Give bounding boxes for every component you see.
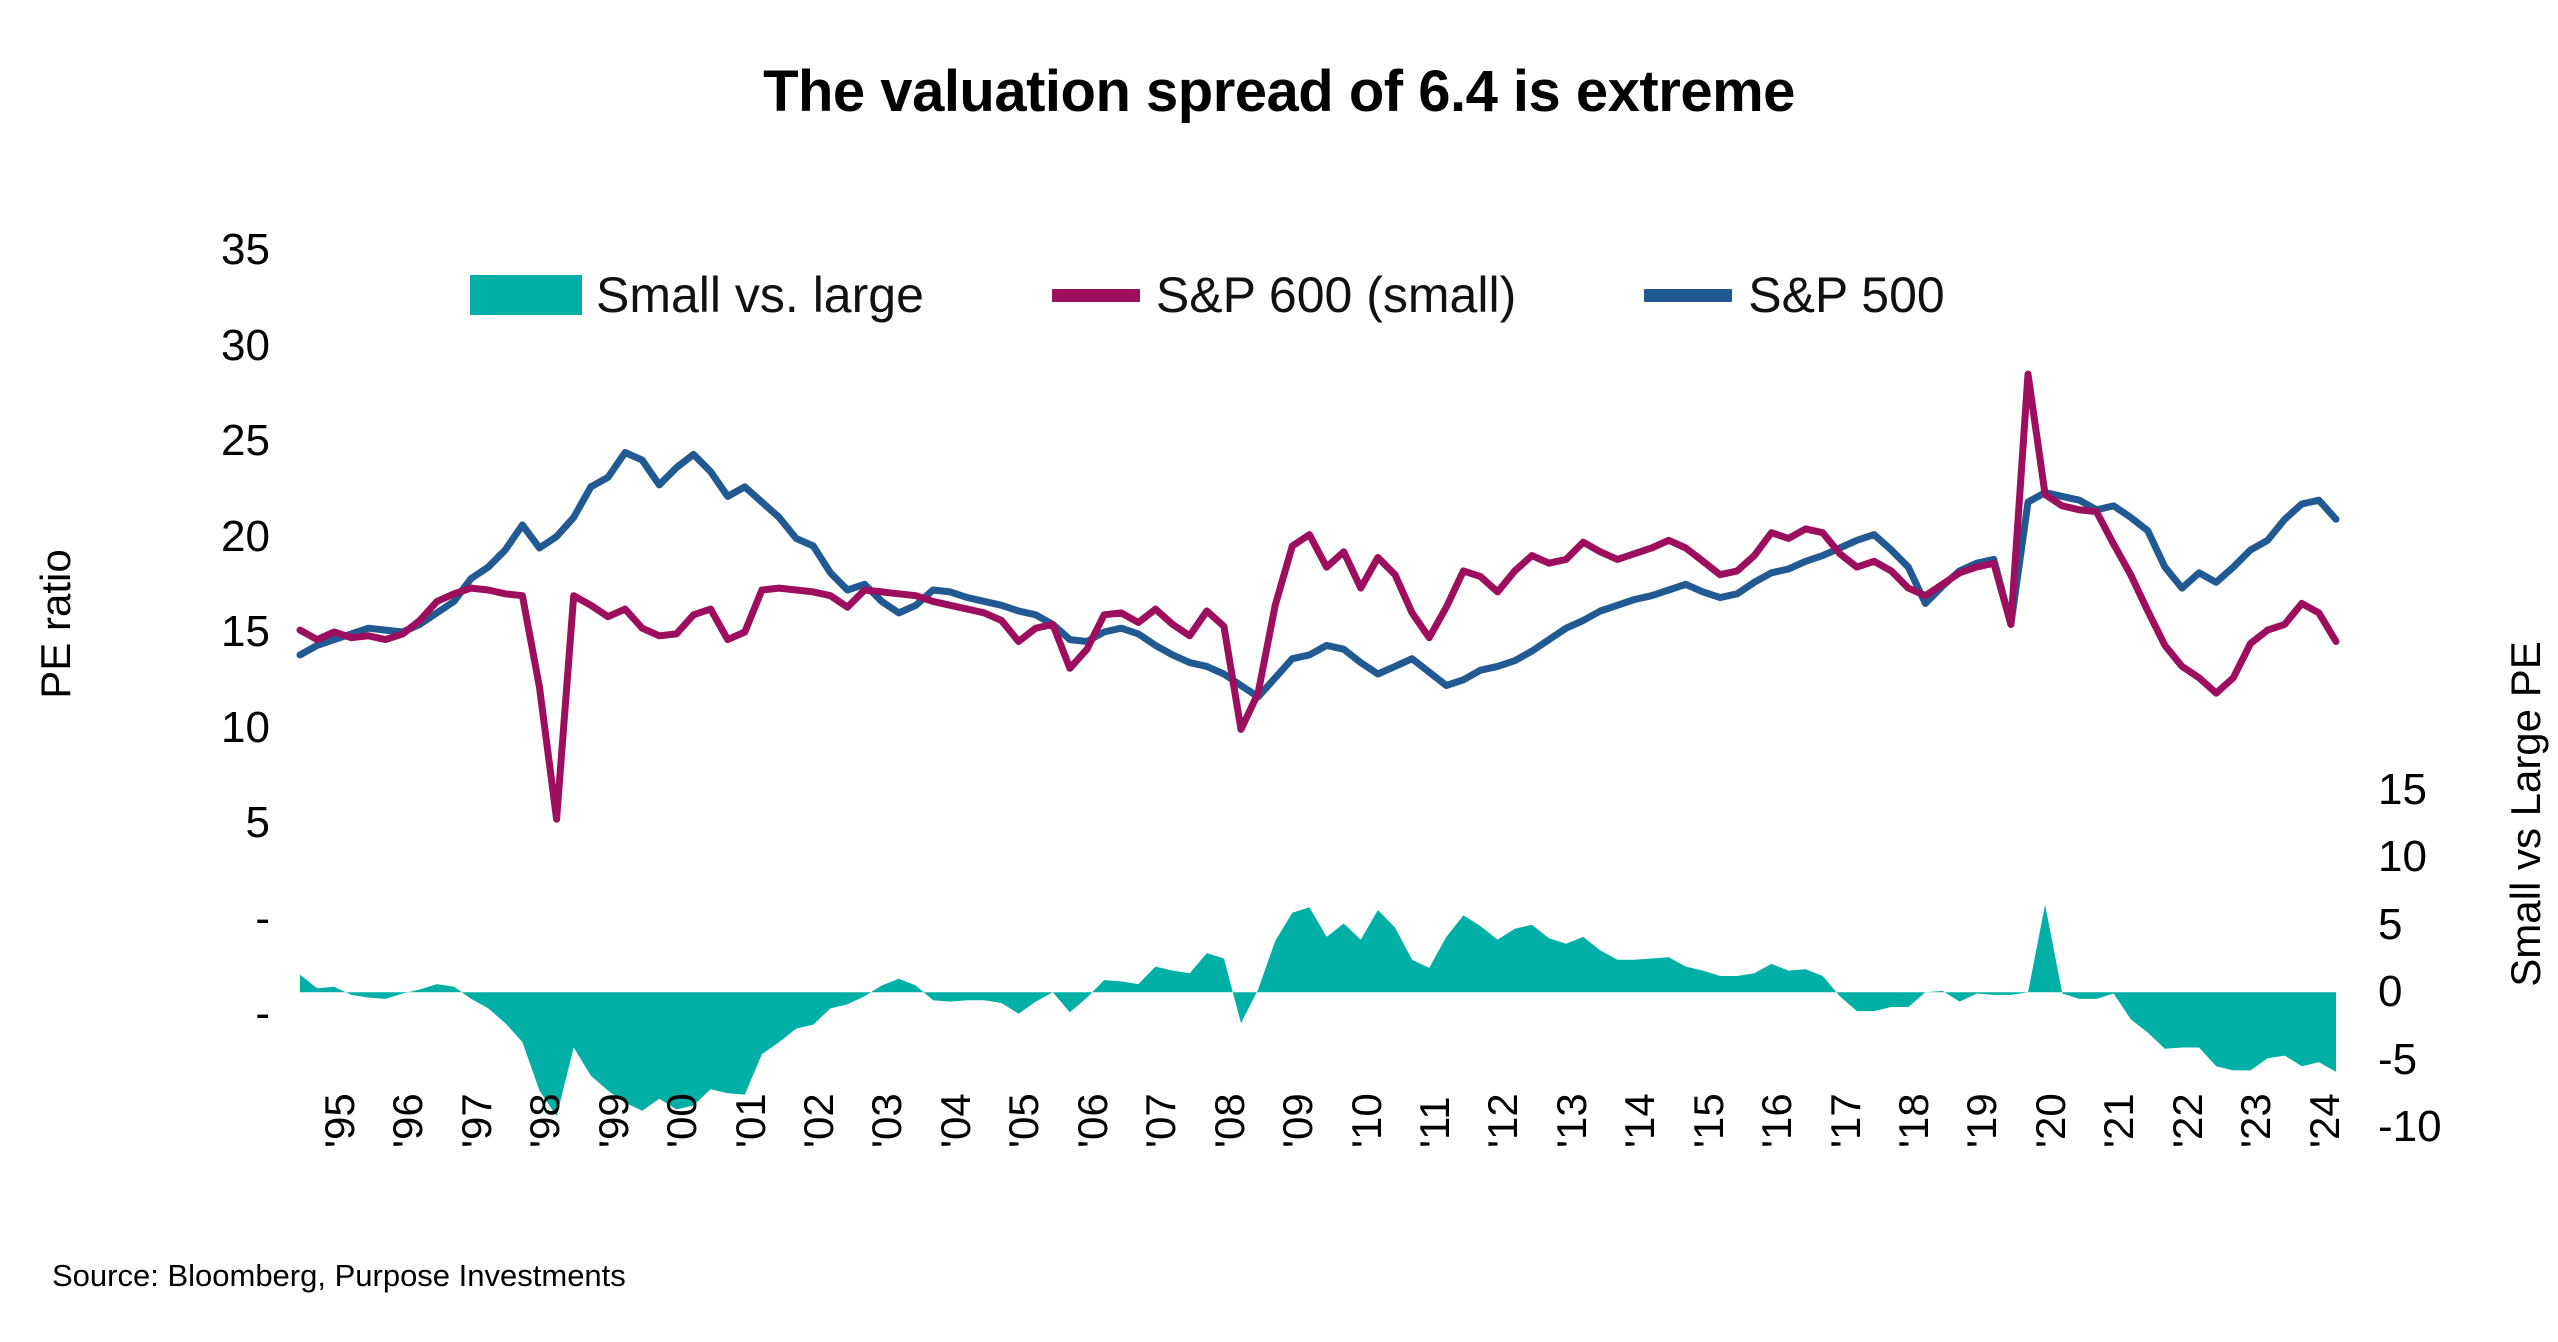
y-axis-left-title: PE ratio xyxy=(32,474,80,774)
x-tick-03: '03 xyxy=(863,1093,911,1148)
y-tick-right-3: 0 xyxy=(2378,970,2488,1014)
legend-label-sp600: S&P 600 (small) xyxy=(1156,266,1516,324)
legend-item-sp500[interactable]: S&P 500 xyxy=(1644,266,1944,324)
x-tick-23: '23 xyxy=(2232,1093,2280,1148)
x-tick-22: '22 xyxy=(2164,1093,2212,1148)
legend-item-small-vs-large[interactable]: Small vs. large xyxy=(470,266,924,324)
x-tick-19: '19 xyxy=(1958,1093,2006,1148)
x-tick-97: '97 xyxy=(453,1093,501,1148)
y-tick-left-7: - xyxy=(160,897,270,941)
x-tick-00: '00 xyxy=(658,1093,706,1148)
x-tick-07: '07 xyxy=(1137,1093,1185,1148)
x-tick-20: '20 xyxy=(2027,1093,2075,1148)
x-tick-04: '04 xyxy=(932,1093,980,1148)
x-tick-16: '16 xyxy=(1753,1093,1801,1148)
x-tick-12: '12 xyxy=(1479,1093,1527,1148)
chart-legend: Small vs. large S&P 600 (small) S&P 500 xyxy=(470,266,1945,324)
x-tick-13: '13 xyxy=(1548,1093,1596,1148)
legend-item-sp600[interactable]: S&P 600 (small) xyxy=(1052,266,1516,324)
x-tick-11: '11 xyxy=(1411,1096,1459,1148)
x-tick-09: '09 xyxy=(1274,1093,1322,1148)
y-tick-left-1: 30 xyxy=(160,324,270,368)
x-tick-24: '24 xyxy=(2301,1093,2349,1148)
x-tick-05: '05 xyxy=(1000,1093,1048,1148)
line-path-s-p-500 xyxy=(300,453,2336,697)
legend-swatch-blue xyxy=(1644,289,1732,302)
chart-figure: The valuation spread of 6.4 is extreme S… xyxy=(0,0,2558,1342)
x-tick-98: '98 xyxy=(521,1093,569,1148)
y-tick-left-2: 25 xyxy=(160,419,270,463)
area-series-small-vs-large xyxy=(300,905,2336,1117)
x-tick-17: '17 xyxy=(1822,1093,1870,1148)
x-tick-10: '10 xyxy=(1343,1093,1391,1148)
x-tick-15: '15 xyxy=(1685,1093,1733,1148)
area-path-small-vs-large xyxy=(300,905,2336,1117)
y-tick-right-5: -10 xyxy=(2378,1105,2488,1149)
y-tick-left-0: 35 xyxy=(160,228,270,272)
y-tick-left-5: 10 xyxy=(160,706,270,750)
y-tick-right-1: 10 xyxy=(2378,835,2488,879)
legend-swatch-magenta xyxy=(1052,289,1140,302)
y-axis-right-title: Small vs Large PE xyxy=(2502,604,2550,1024)
y-tick-left-3: 20 xyxy=(160,515,270,559)
y-tick-left-4: 15 xyxy=(160,610,270,654)
y-tick-right-0: 15 xyxy=(2378,768,2488,812)
x-tick-02: '02 xyxy=(795,1093,843,1148)
y-tick-right-4: -5 xyxy=(2378,1038,2488,1082)
x-tick-96: '96 xyxy=(384,1093,432,1148)
y-tick-right-2: 5 xyxy=(2378,903,2488,947)
y-tick-left-6: 5 xyxy=(160,801,270,845)
legend-swatch-teal xyxy=(470,275,582,315)
x-tick-21: '21 xyxy=(2095,1093,2143,1148)
x-tick-01: '01 xyxy=(727,1093,775,1148)
line-path-s-p-600-small xyxy=(300,374,2336,819)
source-note: Source: Bloomberg, Purpose Investments xyxy=(52,1258,626,1294)
x-tick-08: '08 xyxy=(1206,1093,1254,1148)
x-tick-06: '06 xyxy=(1069,1093,1117,1148)
legend-label-small-vs-large: Small vs. large xyxy=(596,266,924,324)
x-tick-14: '14 xyxy=(1616,1093,1664,1148)
y-tick-left-8: - xyxy=(160,992,270,1036)
legend-label-sp500: S&P 500 xyxy=(1748,266,1944,324)
x-tick-95: '95 xyxy=(316,1093,364,1148)
page-title: The valuation spread of 6.4 is extreme xyxy=(0,58,2558,125)
x-tick-18: '18 xyxy=(1890,1093,1938,1148)
line-series-group xyxy=(300,374,2336,819)
x-tick-99: '99 xyxy=(590,1093,638,1148)
